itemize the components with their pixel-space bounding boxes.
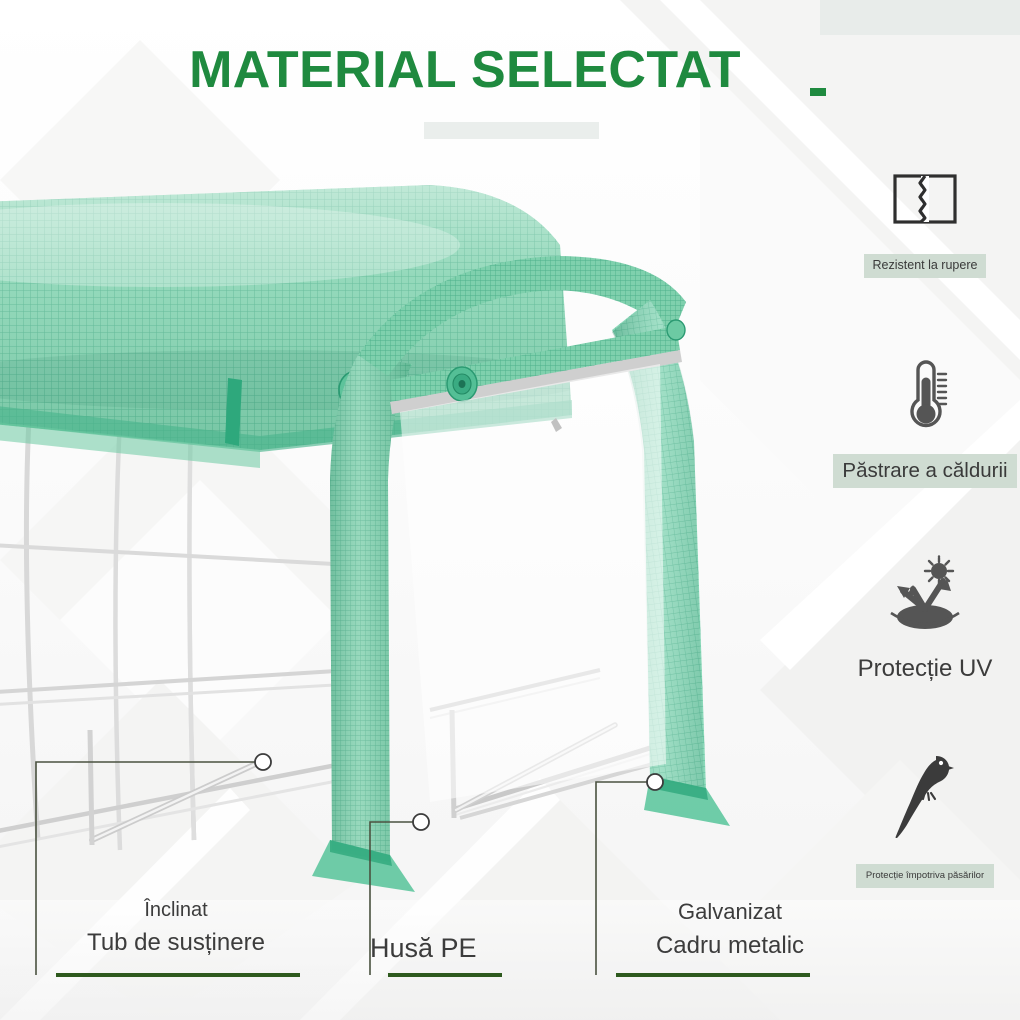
callout-2-line2: Husă PE [370,930,570,968]
callout-label-3: Galvanizat Cadru metalic [600,895,860,963]
callout-lines [0,0,1020,1020]
callout-3-line1: Galvanizat [600,895,860,929]
callout-1-line1: Înclinat [36,895,316,926]
callout-label-1: Înclinat Tub de susținere [36,895,316,960]
callout-marker-2 [413,814,429,830]
callout-1-line2: Tub de susținere [36,926,316,960]
callout-marker-3 [647,774,663,790]
callout-3-line2: Cadru metalic [600,929,860,963]
infographic-canvas: MATERIAL SELECTAT [0,0,1020,1020]
callout-marker-1 [255,754,271,770]
callout-label-2: Husă PE [370,930,570,968]
